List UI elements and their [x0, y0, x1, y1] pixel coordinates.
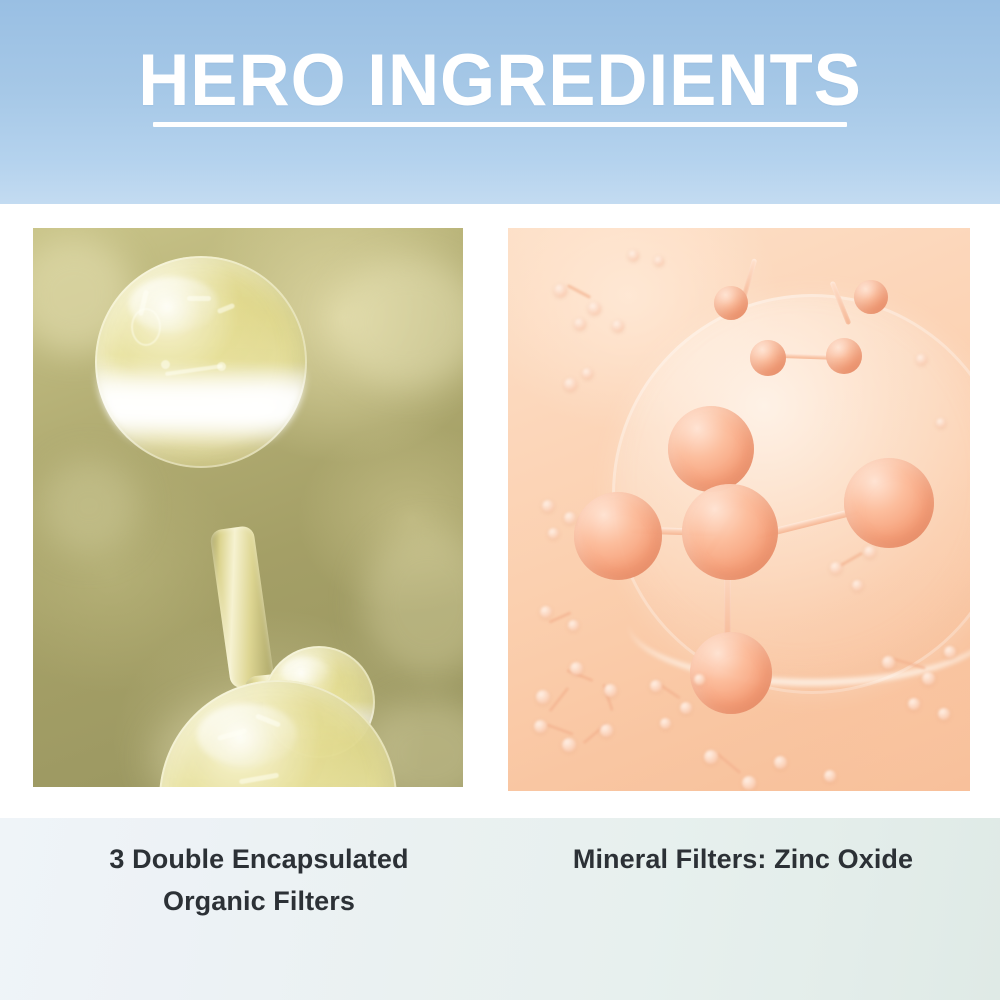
etched-detail: [138, 290, 149, 316]
micro-molecule-dot: [824, 770, 836, 782]
image-row: [0, 204, 1000, 818]
micro-molecule-dot: [694, 674, 705, 685]
molecule-sphere: [574, 492, 662, 580]
specular-highlight: [95, 256, 307, 468]
micro-molecule-dot: [774, 756, 787, 769]
etched-detail: [255, 713, 281, 727]
etched-detail: [161, 360, 170, 369]
etched-detail: [131, 308, 161, 346]
micro-molecule-dot: [944, 646, 956, 658]
molecule-sphere: [844, 458, 934, 548]
micro-molecule-dot: [604, 684, 617, 697]
micro-molecule-dot: [562, 738, 576, 752]
micro-molecule-dot: [540, 606, 552, 618]
bokeh-blob: [41, 458, 137, 554]
etched-detail: [165, 364, 223, 376]
ingredient-image-right: [508, 228, 970, 791]
etched-detail: [217, 303, 236, 314]
micro-molecule-dot: [628, 250, 639, 261]
etched-detail: [217, 728, 247, 741]
micro-molecule-dot: [564, 378, 577, 391]
micro-molecule-dot: [564, 512, 576, 524]
title-underline-rule: [153, 122, 847, 127]
micro-molecule-dot: [680, 702, 692, 714]
caption-left: 3 Double Encapsulated Organic Filters: [24, 838, 494, 922]
micro-molecule-dot: [542, 500, 554, 512]
micro-molecule-dot: [570, 662, 583, 675]
molecule-sphere: [668, 406, 754, 492]
molecule-sphere: [854, 280, 888, 314]
etched-detail: [187, 296, 211, 301]
caption-right: Mineral Filters: Zinc Oxide: [508, 838, 978, 880]
etched-detail: [217, 362, 226, 371]
caption-left-line-2: Organic Filters: [24, 880, 494, 922]
molecule-sphere: [682, 484, 778, 580]
micro-molecule-dot: [582, 368, 593, 379]
micro-molecule-dot: [864, 546, 876, 558]
micro-molecule-dot: [654, 256, 664, 266]
molecule-sphere: [714, 286, 748, 320]
micro-molecule-dot: [548, 528, 559, 539]
micro-molecule-dot: [938, 708, 950, 720]
etched-detail: [239, 773, 279, 785]
micro-molecule-dot: [600, 724, 613, 737]
micro-molecule-dot: [536, 690, 550, 704]
micro-molecule-dot: [588, 302, 601, 315]
ingredient-image-left: [33, 228, 463, 787]
caption-band: 3 Double Encapsulated Organic Filters Mi…: [0, 818, 1000, 1000]
micro-molecule-dot: [908, 698, 920, 710]
micro-molecule-dot: [660, 718, 671, 729]
header-band: HERO INGREDIENTS: [0, 0, 1000, 204]
micro-molecule-dot: [852, 580, 863, 591]
caption-right-line-1: Mineral Filters: Zinc Oxide: [508, 838, 978, 880]
micro-molecule-dot: [574, 318, 586, 330]
page-title: HERO INGREDIENTS: [138, 42, 862, 120]
molecule-sphere: [690, 632, 772, 714]
micro-molecule-dot: [936, 418, 946, 428]
micro-molecule-dot: [916, 354, 927, 365]
molecule-sphere: [95, 256, 307, 468]
molecule-sphere: [750, 340, 786, 376]
micro-molecule-dot: [612, 320, 624, 332]
caption-left-line-1: 3 Double Encapsulated: [24, 838, 494, 880]
micro-molecule-dot: [650, 680, 662, 692]
micro-molecule-dot: [922, 672, 935, 685]
micro-molecule-dot: [882, 656, 895, 669]
molecule-sphere: [826, 338, 862, 374]
micro-molecule-dot: [534, 720, 547, 733]
micro-molecule-dot: [554, 284, 567, 297]
micro-molecule-dot: [742, 776, 756, 790]
page-title-wrap: HERO INGREDIENTS: [0, 42, 1000, 120]
micro-molecule-dot: [568, 620, 579, 631]
micro-molecule-dot: [830, 562, 842, 574]
micro-molecule-dot: [704, 750, 718, 764]
